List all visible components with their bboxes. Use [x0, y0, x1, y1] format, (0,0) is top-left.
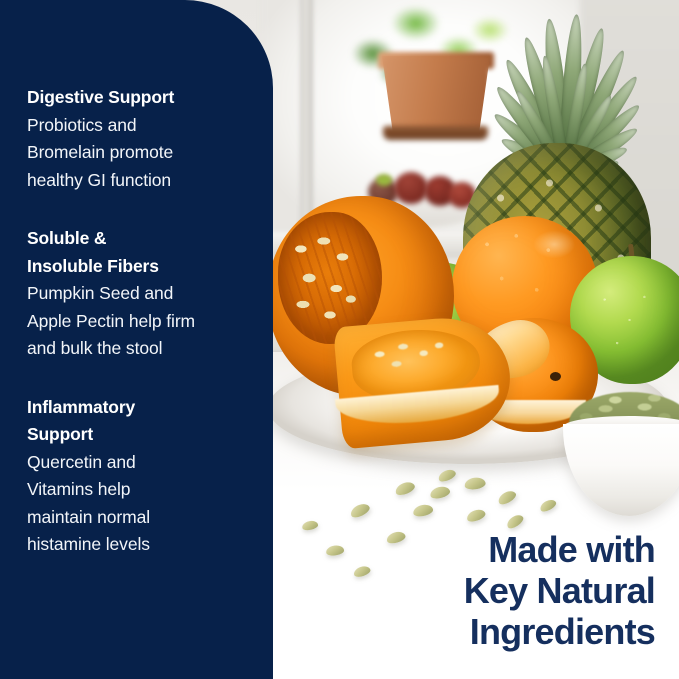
benefit-body-line: Pumpkin Seed and — [27, 283, 173, 303]
benefit-body-line: Bromelain promote — [27, 142, 173, 162]
benefits-panel: Digestive Support Probiotics and Bromela… — [0, 0, 273, 679]
benefit-block-inflammatory-support: Inflammatory Support Quercetin and Vitam… — [27, 394, 259, 559]
benefit-body: Probiotics and Bromelain promote healthy… — [27, 112, 259, 195]
background-berry — [394, 172, 428, 204]
background-berry-leaf — [376, 174, 392, 186]
benefit-body: Pumpkin Seed and Apple Pectin help firm … — [27, 280, 259, 363]
benefit-block-digestive-support: Digestive Support Probiotics and Bromela… — [27, 84, 259, 194]
benefit-body-line: Probiotics and — [27, 115, 137, 135]
headline-made-with-key-natural-ingredients: Made with Key Natural Ingredients — [315, 529, 655, 652]
benefit-body: Quercetin and Vitamins help maintain nor… — [27, 449, 259, 559]
orange-seed — [550, 372, 561, 381]
benefit-body-line: maintain normal — [27, 507, 150, 527]
benefit-body-line: healthy GI function — [27, 170, 171, 190]
benefit-title-line: Insoluble Fibers — [27, 256, 159, 276]
pumpkin-wedge-seeds — [360, 330, 464, 385]
advertisement-banner: Digestive Support Probiotics and Bromela… — [0, 0, 679, 679]
benefit-body-line: Vitamins help — [27, 479, 130, 499]
benefit-title-line: Soluble & — [27, 228, 106, 248]
benefit-title: Soluble & Insoluble Fibers — [27, 225, 259, 280]
benefit-body-line: histamine levels — [27, 534, 150, 554]
benefit-title-line: Support — [27, 424, 93, 444]
benefit-body-line: Apple Pectin help firm — [27, 311, 195, 331]
benefit-block-list: Digestive Support Probiotics and Bromela… — [27, 84, 259, 559]
benefit-title: Digestive Support — [27, 84, 259, 112]
benefit-title-line: Inflammatory — [27, 397, 135, 417]
benefit-title: Inflammatory Support — [27, 394, 259, 449]
headline-line: Key Natural — [315, 570, 655, 611]
benefit-body-line: and bulk the stool — [27, 338, 162, 358]
headline-line: Ingredients — [315, 611, 655, 652]
headline-line: Made with — [315, 529, 655, 570]
benefit-body-line: Quercetin and — [27, 452, 136, 472]
benefit-block-soluble-insoluble-fibers: Soluble & Insoluble Fibers Pumpkin Seed … — [27, 225, 259, 363]
window-frame — [300, 0, 313, 240]
